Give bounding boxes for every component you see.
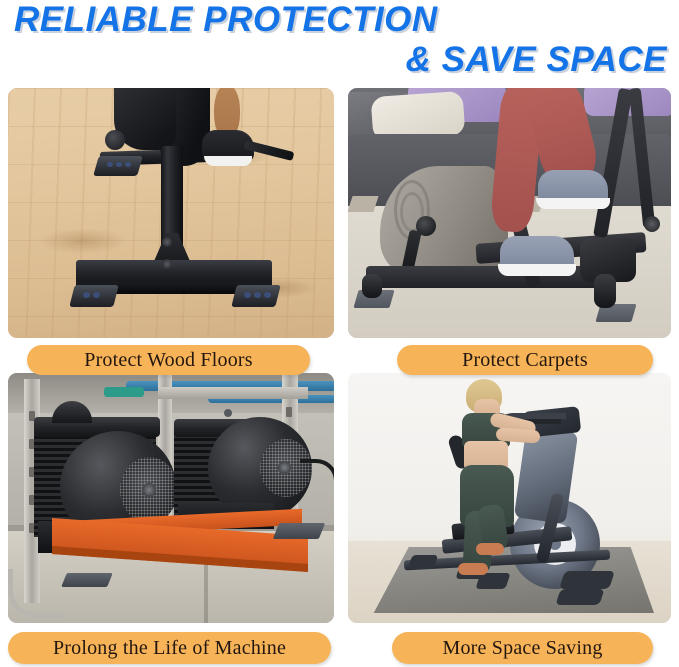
pad-detail-dot bbox=[125, 162, 131, 167]
user-shoe bbox=[458, 563, 488, 575]
scene-wood-floor bbox=[8, 88, 334, 338]
bike-bolt bbox=[162, 259, 172, 269]
motor-shaft-center bbox=[278, 461, 291, 474]
pad-detail-dot bbox=[93, 292, 100, 298]
rack-perforation bbox=[286, 407, 292, 417]
sofa-leg bbox=[348, 196, 379, 212]
elliptical-foot bbox=[408, 555, 439, 569]
scene-studio-elliptical bbox=[348, 373, 671, 623]
caption-pill-more-space-saving: More Space Saving bbox=[392, 632, 653, 664]
caption-pill-protect-carpets: Protect Carpets bbox=[397, 345, 653, 375]
headline-block: RELIABLE PROTECTION & SAVE SPACE bbox=[0, 0, 679, 86]
rider-shoe-sole bbox=[204, 156, 252, 166]
user-shoe bbox=[476, 543, 504, 555]
elliptical-rear-foot bbox=[559, 571, 615, 589]
floor-cable bbox=[8, 569, 67, 618]
bike-wheel bbox=[105, 130, 125, 150]
bike-bolt bbox=[162, 237, 172, 247]
anti-vibration-pad bbox=[273, 523, 325, 539]
wood-grain-knot bbox=[38, 228, 128, 254]
product-feature-graphic: RELIABLE PROTECTION & SAVE SPACE bbox=[0, 0, 679, 667]
pad-detail-dot bbox=[254, 292, 261, 298]
pad-detail-dot bbox=[244, 292, 251, 298]
motor-power-cable bbox=[300, 459, 334, 493]
headline-line-1: RELIABLE PROTECTION bbox=[12, 0, 671, 40]
caption-text: Prolong the Life of Machine bbox=[53, 637, 286, 660]
elliptical-pivot-bolt bbox=[644, 216, 660, 232]
anti-vibration-pad bbox=[61, 573, 113, 587]
green-valve bbox=[104, 387, 144, 397]
caption-text: Protect Carpets bbox=[462, 349, 588, 372]
photo-protect-carpets bbox=[348, 88, 671, 338]
caption-pill-protect-wood-floors: Protect Wood Floors bbox=[27, 345, 310, 375]
motor-shaft-center bbox=[142, 483, 156, 497]
photo-protect-wood-floors bbox=[8, 88, 334, 338]
elliptical-base-rail bbox=[366, 266, 616, 288]
shelving-rack-beam bbox=[158, 387, 308, 399]
scene-industrial-motors bbox=[8, 373, 334, 623]
elliptical-front-foot bbox=[362, 274, 382, 298]
caption-text: More Space Saving bbox=[442, 637, 602, 660]
elliptical-rear-foot bbox=[555, 589, 604, 605]
rider-shoe-sole bbox=[536, 198, 610, 209]
scene-living-room-carpet bbox=[348, 88, 671, 338]
caption-pill-prolong-life-of-machine: Prolong the Life of Machine bbox=[8, 632, 331, 664]
pad-detail-dot bbox=[116, 162, 122, 167]
rider-shoe-sole bbox=[498, 264, 576, 276]
photo-grid bbox=[0, 86, 679, 667]
caption-text: Protect Wood Floors bbox=[84, 349, 253, 372]
headline-line-2: & SAVE SPACE bbox=[12, 40, 671, 80]
photo-more-space-saving bbox=[348, 373, 671, 623]
pad-detail-dot bbox=[107, 162, 113, 167]
elliptical-rear-foot bbox=[594, 274, 616, 308]
pad-detail-dot bbox=[264, 292, 271, 298]
photo-prolong-life-of-machine bbox=[8, 373, 334, 623]
elliptical-foot bbox=[475, 573, 510, 589]
pad-detail-dot bbox=[83, 292, 90, 298]
motor-cap-bolt bbox=[224, 409, 232, 417]
